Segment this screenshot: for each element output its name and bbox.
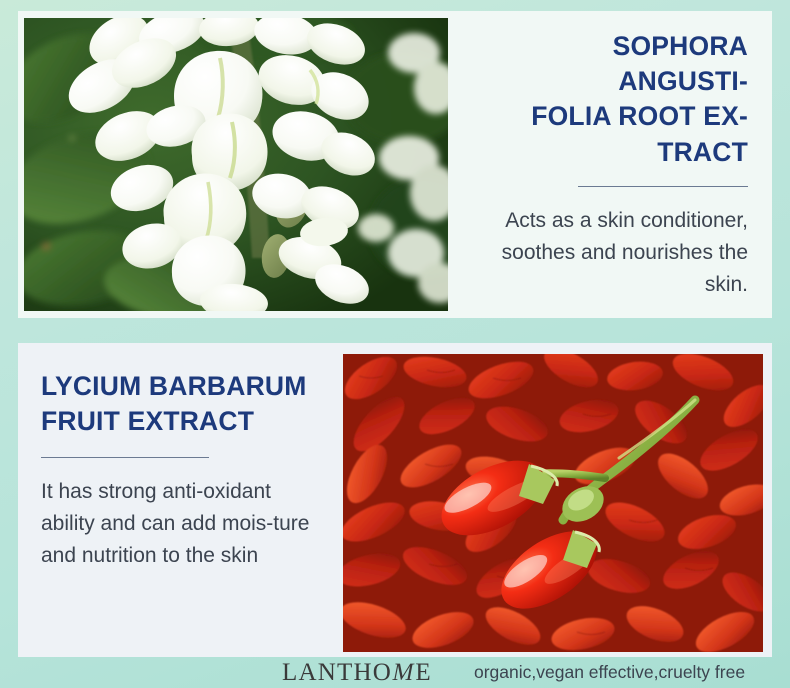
sophora-divider (578, 186, 748, 187)
product-ingredient-infographic: SOPHORA ANGUSTI-FOLIA ROOT EX-TRACT Acts… (0, 0, 790, 688)
sophora-description: Acts as a skin conditioner, soothes and … (478, 205, 748, 301)
goji-berry-illustration (343, 354, 763, 652)
lycium-title: LYCIUM BARBARUMFRUIT EXTRACT (41, 369, 328, 439)
footer-bar: LANTHOME organic,vegan effective,cruelty… (0, 657, 790, 688)
ingredient-card-sophora: SOPHORA ANGUSTI-FOLIA ROOT EX-TRACT Acts… (18, 11, 772, 318)
sophora-flower-illustration (24, 18, 448, 311)
brand-tagline: organic,vegan effective,cruelty free (474, 662, 745, 683)
brand-text-part1: LANTHO (282, 659, 392, 686)
lycium-description: It has strong anti-oxidant ability and c… (41, 476, 328, 572)
lycium-text-block: LYCIUM BARBARUMFRUIT EXTRACT It has stro… (18, 343, 348, 657)
brand-logo-lanthome: LANTHOME (282, 659, 432, 687)
brand-slashed-m: M (390, 659, 417, 687)
sophora-text-block: SOPHORA ANGUSTI-FOLIA ROOT EX-TRACT Acts… (458, 11, 772, 318)
goji-berry-photo (343, 354, 763, 652)
sophora-flower-photo (24, 18, 448, 311)
lycium-divider (41, 457, 209, 458)
ingredient-card-lycium: LYCIUM BARBARUMFRUIT EXTRACT It has stro… (18, 343, 772, 657)
sophora-title: SOPHORA ANGUSTI-FOLIA ROOT EX-TRACT (478, 29, 748, 170)
brand-text-part2: E (415, 659, 431, 686)
